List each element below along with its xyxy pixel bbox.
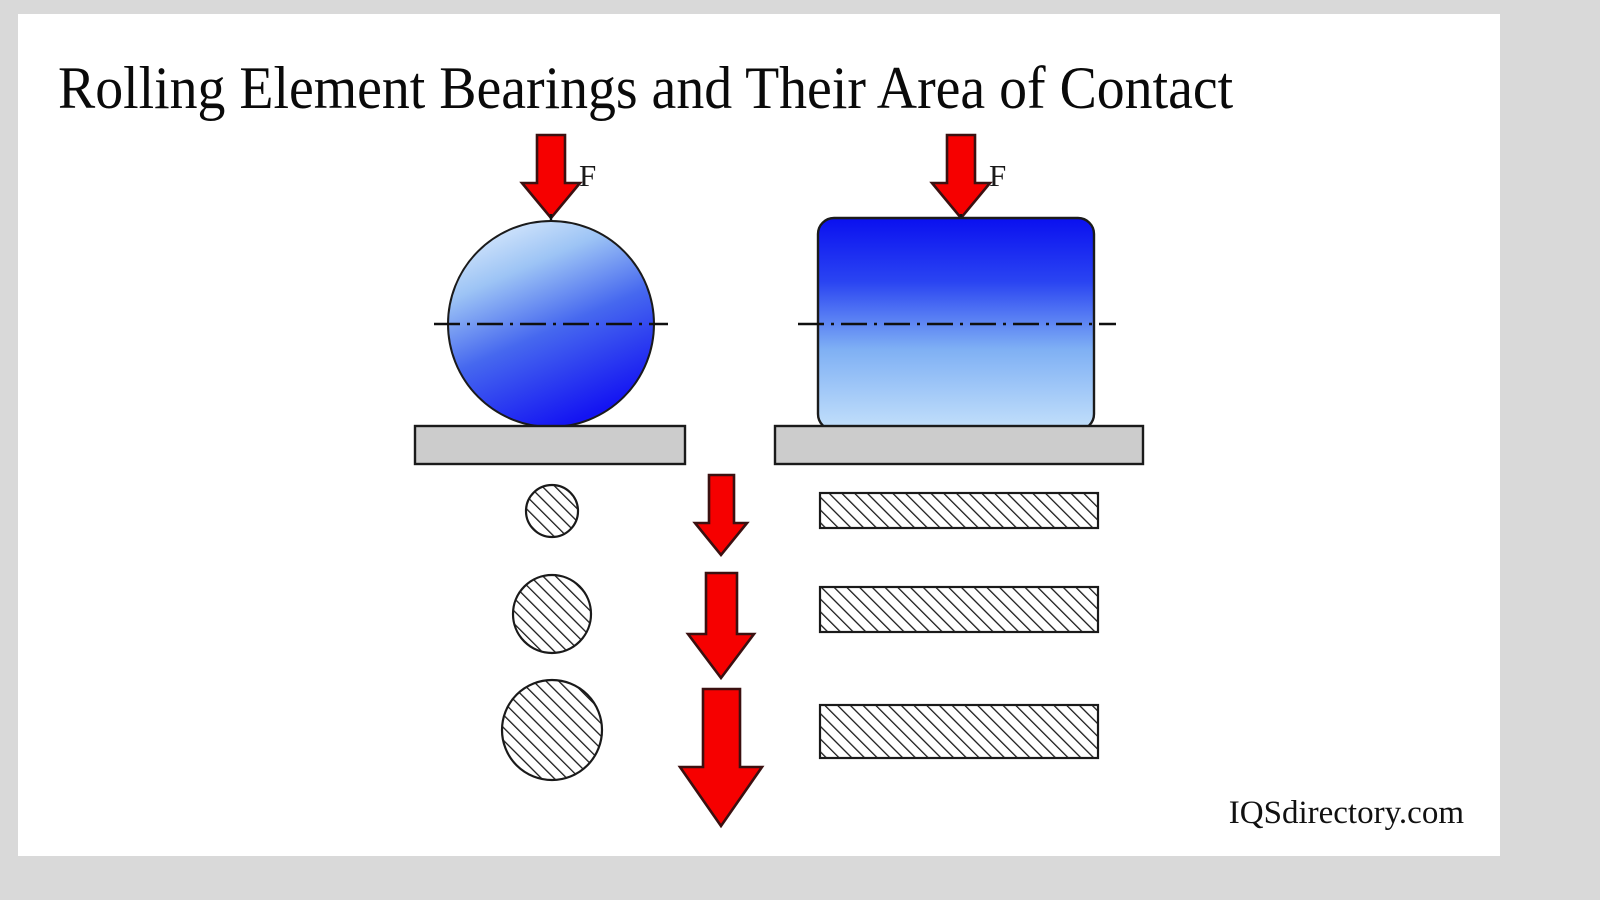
contact-patch-circle-large — [502, 680, 602, 780]
load-arrow-medium — [688, 573, 754, 678]
force-arrow-roller — [932, 135, 990, 218]
contact-patch-circle-medium — [513, 575, 591, 653]
contact-patch-rect-large — [820, 705, 1098, 758]
bearing-contact-diagram — [18, 14, 1500, 856]
load-progression-arrows — [680, 475, 762, 826]
force-label-ball: F — [579, 158, 596, 194]
force-label-roller: F — [989, 158, 1006, 194]
roller-bearing-group — [775, 135, 1143, 758]
ball-bearing-group — [415, 135, 685, 780]
diagram-canvas: Rolling Element Bearings and Their Area … — [18, 14, 1500, 856]
support-bar-left — [415, 426, 685, 464]
contact-patch-rect-medium — [820, 587, 1098, 632]
force-arrow-ball — [522, 135, 580, 218]
support-bar-right — [775, 426, 1143, 464]
watermark-text: IQSdirectory.com — [1229, 795, 1464, 832]
contact-patch-rect-small — [820, 493, 1098, 528]
load-arrow-small — [695, 475, 747, 555]
load-arrow-large — [680, 689, 762, 826]
diagram-page: Rolling Element Bearings and Their Area … — [0, 0, 1600, 900]
contact-patch-circle-small — [526, 485, 578, 537]
